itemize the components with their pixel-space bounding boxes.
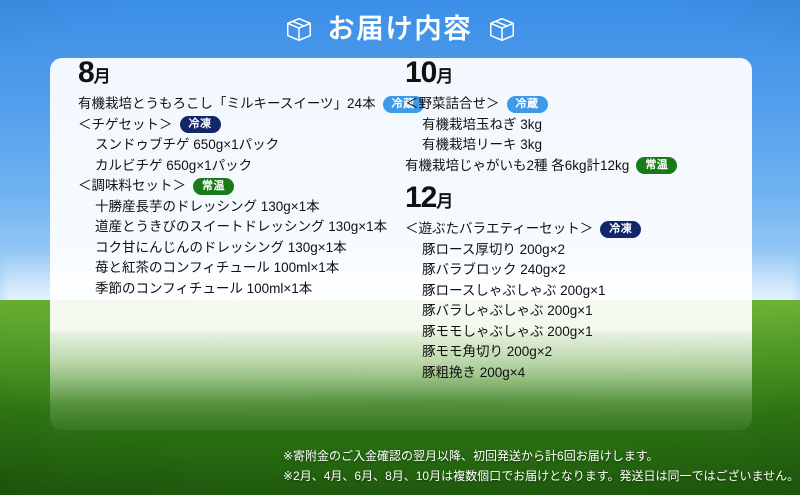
- item-text: 豚モモ角切り 200g×2: [422, 342, 552, 363]
- item-line: 十勝産長芋のドレッシング 130g×1本: [78, 197, 408, 218]
- item-line: 豚粗挽き 200g×4: [405, 363, 750, 384]
- item-group-line: ＜調味料セット＞常温: [78, 176, 408, 197]
- month-suffix: 月: [436, 67, 453, 86]
- item-group-line: 有機栽培じゃがいも2種 各6kg計12kg常温: [405, 156, 750, 177]
- item-text: 有機栽培とうもろこし「ミルキースイーツ」24本: [78, 94, 376, 115]
- item-text: 有機栽培リーキ 3kg: [422, 135, 542, 156]
- item-text: ＜野菜詰合せ＞: [405, 94, 500, 115]
- page-title: お届け内容: [328, 16, 473, 43]
- month-column-left: 8月有機栽培とうもろこし「ミルキースイーツ」24本冷蔵＜チゲセット＞冷凍スンドゥ…: [78, 58, 408, 299]
- item-line: 有機栽培リーキ 3kg: [405, 135, 750, 156]
- item-line: スンドゥブチゲ 650g×1パック: [78, 135, 408, 156]
- month-suffix: 月: [436, 192, 453, 211]
- item-line: 豚ロースしゃぶしゃぶ 200g×1: [405, 281, 750, 302]
- item-line: 有機栽培玉ねぎ 3kg: [405, 115, 750, 136]
- item-line: 豚ロース厚切り 200g×2: [405, 240, 750, 261]
- item-text: 有機栽培玉ねぎ 3kg: [422, 115, 542, 136]
- item-text: 苺と紅茶のコンフィチュール 100ml×1本: [95, 258, 339, 279]
- item-text: ＜チゲセット＞: [78, 115, 173, 136]
- month-heading: 10月: [405, 58, 750, 88]
- item-text: ＜調味料セット＞: [78, 176, 186, 197]
- item-group-line: ＜野菜詰合せ＞冷蔵: [405, 94, 750, 115]
- header-banner: お届け内容: [0, 0, 800, 58]
- item-line: 豚バラしゃぶしゃぶ 200g×1: [405, 301, 750, 322]
- item-text: スンドゥブチゲ 650g×1パック: [95, 135, 279, 156]
- temperature-badge-reito: 冷凍: [180, 116, 221, 133]
- item-line: 苺と紅茶のコンフィチュール 100ml×1本: [78, 258, 408, 279]
- item-text: カルビチゲ 650g×1パック: [95, 156, 252, 177]
- item-group-line: ＜チゲセット＞冷凍: [78, 115, 408, 136]
- column-spacer: [405, 176, 750, 183]
- footer-note-line: ※寄附金のご入金確認の翌月以降、初回発送から計6回お届けします。: [283, 446, 783, 466]
- item-text: 豚粗挽き 200g×4: [422, 363, 525, 384]
- parcel-box-icon-left: [284, 14, 314, 44]
- temperature-badge-joon: 常温: [193, 178, 234, 195]
- item-group-line: 有機栽培とうもろこし「ミルキースイーツ」24本冷蔵: [78, 94, 408, 115]
- item-line: 豚バラブロック 240g×2: [405, 260, 750, 281]
- month-number: 10: [405, 56, 436, 89]
- temperature-badge-reito: 冷凍: [600, 221, 641, 238]
- item-text: 有機栽培じゃがいも2種 各6kg計12kg: [405, 156, 629, 177]
- item-line: カルビチゲ 650g×1パック: [78, 156, 408, 177]
- month-heading: 8月: [78, 58, 408, 88]
- month-number: 12: [405, 181, 436, 214]
- item-line: 豚モモしゃぶしゃぶ 200g×1: [405, 322, 750, 343]
- item-text: 豚ロースしゃぶしゃぶ 200g×1: [422, 281, 606, 302]
- item-text: 道産とうきびのスイートドレッシング 130g×1本: [95, 217, 387, 238]
- month-column-right: 10月＜野菜詰合せ＞冷蔵有機栽培玉ねぎ 3kg有機栽培リーキ 3kg有機栽培じゃ…: [405, 58, 750, 383]
- month-heading: 12月: [405, 183, 750, 213]
- item-group-line: ＜遊ぶたバラエティーセット＞冷凍: [405, 219, 750, 240]
- item-line: 道産とうきびのスイートドレッシング 130g×1本: [78, 217, 408, 238]
- temperature-badge-reizo: 冷蔵: [507, 96, 548, 113]
- item-line: コク甘にんじんのドレッシング 130g×1本: [78, 238, 408, 259]
- item-text: 季節のコンフィチュール 100ml×1本: [95, 279, 312, 300]
- item-text: 豚バラブロック 240g×2: [422, 260, 566, 281]
- item-line: 豚モモ角切り 200g×2: [405, 342, 750, 363]
- month-number: 8: [78, 56, 94, 89]
- footer-note-line: ※2月、4月、6月、8月、10月は複数個口でお届けとなります。発送日は同一ではご…: [283, 466, 783, 486]
- item-line: 季節のコンフィチュール 100ml×1本: [78, 279, 408, 300]
- temperature-badge-joon: 常温: [636, 157, 677, 174]
- footer-notes: ※寄附金のご入金確認の翌月以降、初回発送から計6回お届けします。※2月、4月、6…: [283, 446, 783, 486]
- item-text: ＜遊ぶたバラエティーセット＞: [405, 219, 593, 240]
- parcel-box-icon-right: [487, 14, 517, 44]
- month-suffix: 月: [94, 67, 111, 86]
- contents-card-body: 8月有機栽培とうもろこし「ミルキースイーツ」24本冷蔵＜チゲセット＞冷凍スンドゥ…: [50, 58, 752, 430]
- item-text: 豚ロース厚切り 200g×2: [422, 240, 565, 261]
- item-text: 豚モモしゃぶしゃぶ 200g×1: [422, 322, 593, 343]
- item-text: コク甘にんじんのドレッシング 130g×1本: [95, 238, 347, 259]
- item-text: 十勝産長芋のドレッシング 130g×1本: [95, 197, 320, 218]
- item-text: 豚バラしゃぶしゃぶ 200g×1: [422, 301, 593, 322]
